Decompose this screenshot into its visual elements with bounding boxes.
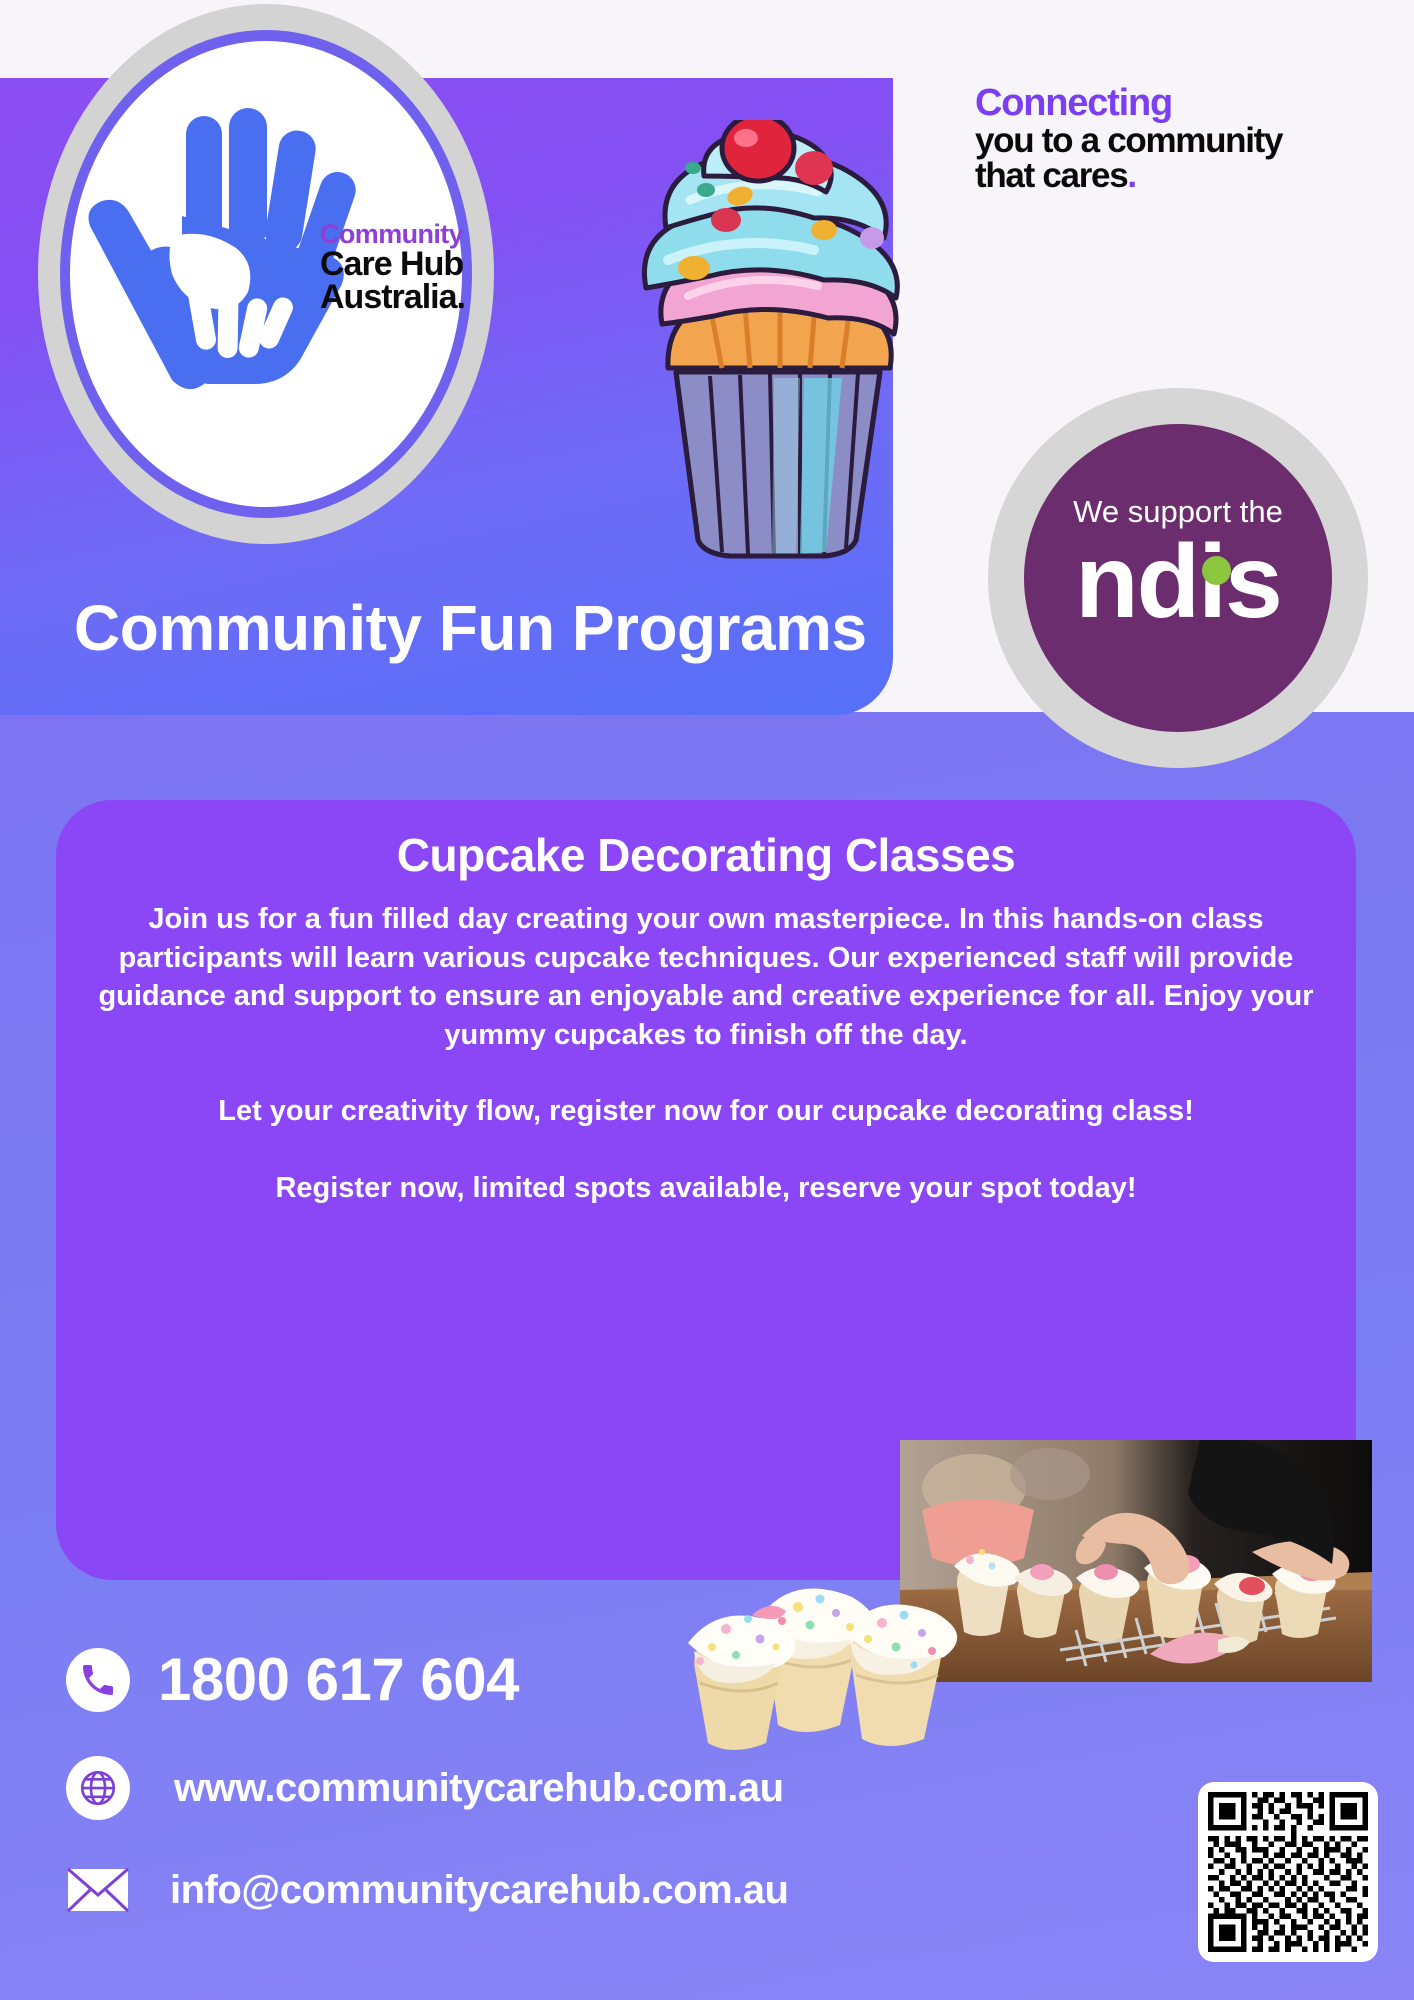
program-description: Join us for a fun filled day creating yo…: [94, 900, 1318, 1207]
email-address: info@communitycarehub.com.au: [170, 1868, 788, 1913]
program-paragraph-3: Register now, limited spots available, r…: [94, 1169, 1318, 1208]
tagline-line-3: that cares.: [975, 158, 1395, 194]
globe-icon: [66, 1756, 130, 1820]
tagline-line-1: Connecting: [975, 84, 1395, 123]
envelope-icon: [66, 1858, 130, 1922]
program-paragraph-1: Join us for a fun filled day creating yo…: [94, 900, 1318, 1054]
contact-row-website[interactable]: www.communitycarehub.com.au: [66, 1756, 1066, 1820]
contact-row-email[interactable]: info@communitycarehub.com.au: [66, 1858, 1066, 1922]
program-heading: Cupcake Decorating Classes: [56, 828, 1356, 882]
qr-code[interactable]: [1198, 1782, 1378, 1962]
logo-wordmark: Community Care Hub Australia.: [320, 222, 490, 313]
website-url: www.communitycarehub.com.au: [174, 1766, 784, 1811]
program-paragraph-2: Let your creativity flow, register now f…: [94, 1092, 1318, 1131]
tagline-period: .: [1127, 156, 1135, 195]
ndis-support-badge: We support the ndis: [988, 388, 1368, 768]
phone-number: 1800 617 604: [158, 1645, 519, 1714]
tagline-line-2: you to a community: [975, 123, 1395, 159]
logo-word-australia: Australia.: [320, 281, 490, 314]
logo-word-carehub: Care Hub: [320, 248, 490, 281]
cupcake-illustration: [618, 120, 938, 560]
ndis-green-dot: [1202, 556, 1231, 585]
tagline: Connecting you to a community that cares…: [975, 84, 1395, 194]
helping-hands-icon: [86, 108, 356, 398]
contact-block: 1800 617 604 www.communitycarehub.com.au: [66, 1645, 1066, 1950]
contact-row-phone[interactable]: 1800 617 604: [66, 1645, 1066, 1714]
phone-icon: [66, 1648, 130, 1712]
page-title: Community Fun Programs: [74, 586, 894, 670]
community-care-hub-logo: Community Care Hub Australia.: [38, 4, 494, 544]
flyer-poster: Community Care Hub Australia.: [0, 0, 1414, 2000]
ndis-wordmark: ndis: [988, 530, 1368, 634]
